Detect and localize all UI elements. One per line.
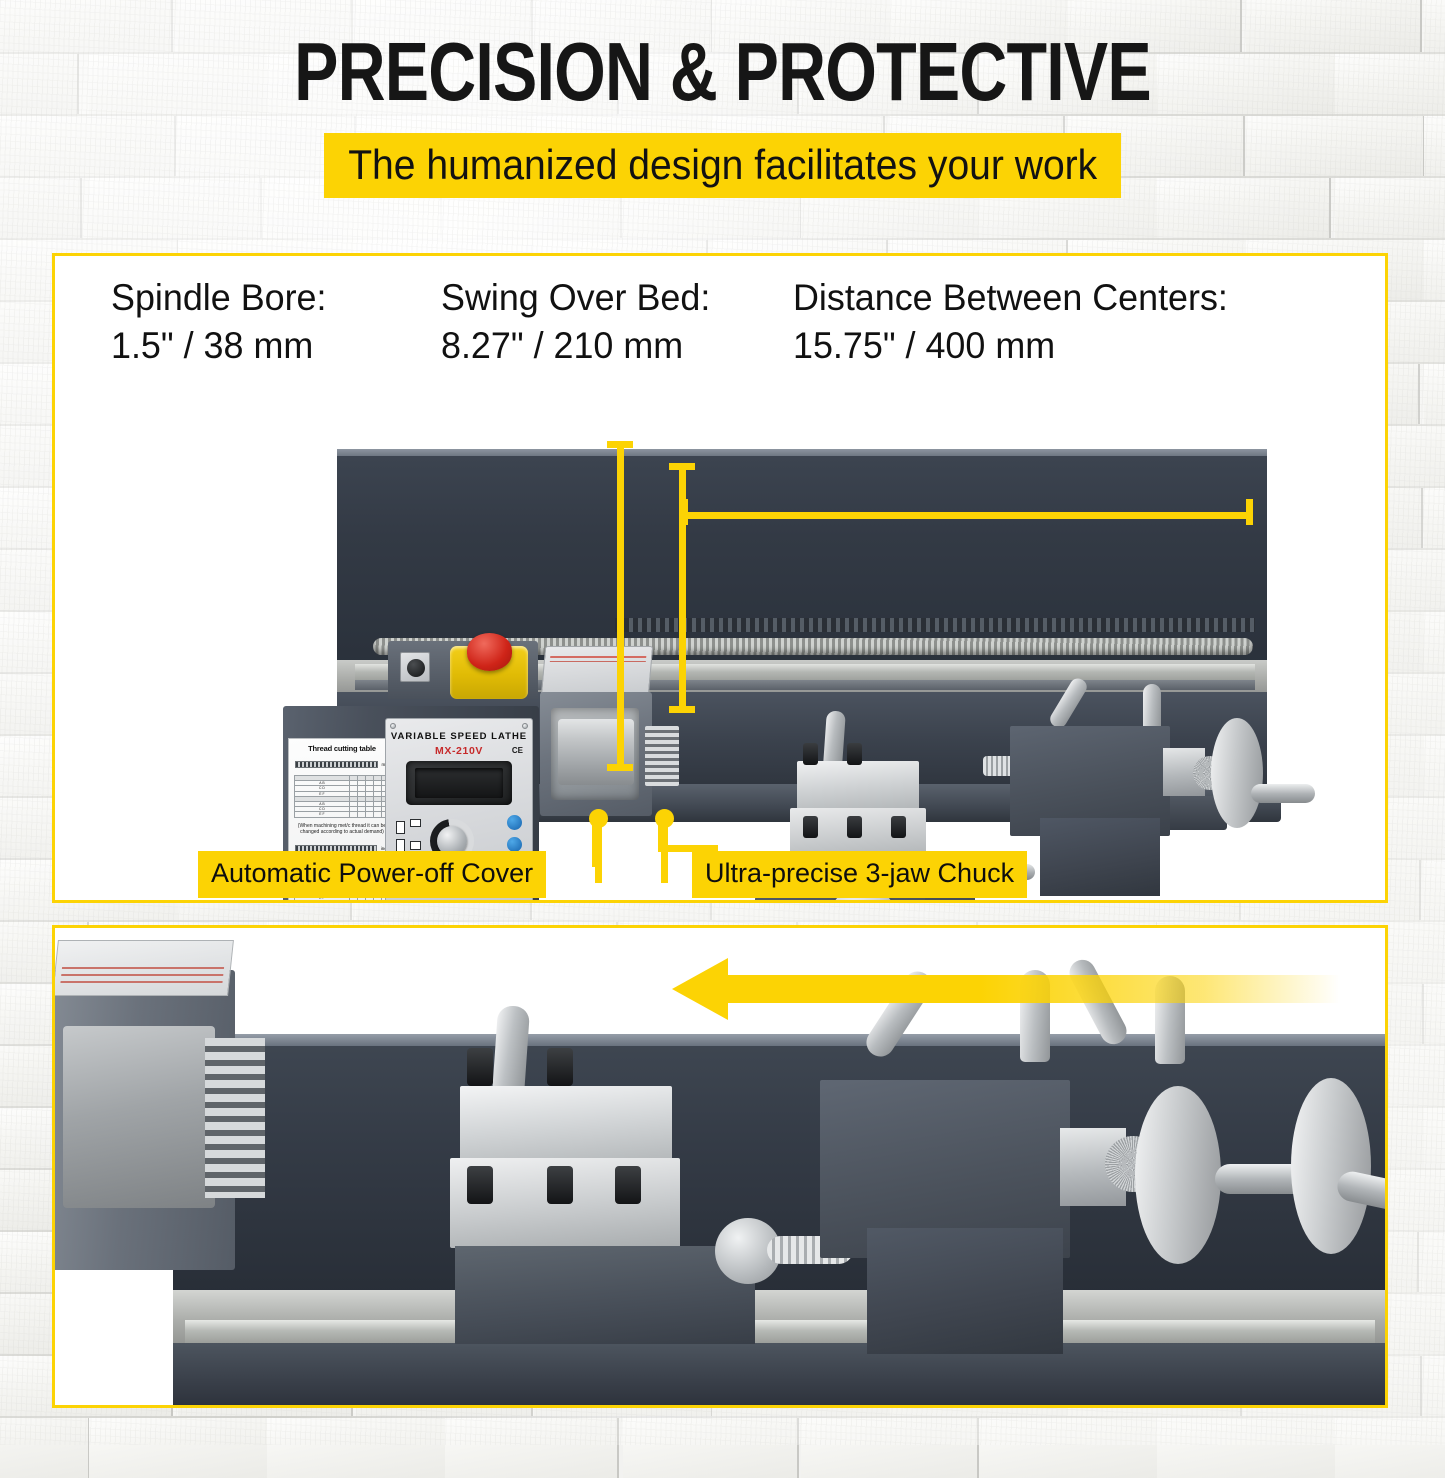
- chuck-guard-lid[interactable]: [541, 646, 653, 696]
- dim-line-distance-between-centers: [681, 512, 1253, 519]
- panel-screw-tl: [390, 723, 396, 729]
- thread-table-metric: A B C D E F A B C D E F: [294, 775, 390, 818]
- tool-post-bolt: [803, 743, 818, 765]
- thread-table-title: Thread cutting table: [289, 739, 395, 753]
- symbol-m: [410, 819, 421, 827]
- guard-warning-stripe-2: [550, 661, 646, 662]
- thread-diagram-mm: mm: [295, 756, 389, 772]
- tailstock-handle[interactable]: [1251, 784, 1315, 803]
- subtitle-wrap: The humanized design facilitates your wo…: [0, 133, 1445, 199]
- speed-display: [406, 761, 512, 805]
- dim-cap-swing-top: [669, 463, 695, 470]
- closeup-bed-front: [173, 1343, 1385, 1408]
- panel-screw-tr: [522, 723, 528, 729]
- closeup-tailstock-base: [867, 1228, 1063, 1354]
- callout-stem-power-off-cover: [592, 815, 599, 867]
- closeup-tool-post-top: [460, 1086, 672, 1164]
- dim-cap-distance-left: [681, 499, 688, 525]
- dim-line-spindle-bore: [617, 441, 624, 771]
- callout-stem-chuck: [658, 815, 665, 845]
- tool-post-bolt: [847, 743, 862, 765]
- tool-post-bolt: [803, 816, 818, 838]
- chuck-jaws: [645, 726, 679, 786]
- direction-arrow-head: [672, 958, 728, 1020]
- top-feature-panel: Spindle Bore: 1.5" / 38 mm Swing Over Be…: [52, 253, 1388, 903]
- tool-post-top: [797, 761, 919, 811]
- closeup-three-jaw-chuck: [63, 1026, 215, 1208]
- thread-pitch-icon: [295, 761, 378, 768]
- ce-mark: CE: [512, 746, 523, 755]
- tailstock-base: [1040, 818, 1160, 896]
- panel-caution-heading: CAUTION: [394, 900, 416, 903]
- symbol-forward: [396, 821, 405, 834]
- callout-label-power-off-cover: Automatic Power-off Cover: [198, 851, 546, 898]
- closeup-tool-post-bolt: [615, 1166, 641, 1204]
- closeup-label-stripe: [60, 981, 222, 983]
- page-title: PRECISION & PROTECTIVE: [145, 30, 1301, 115]
- model-number: MX-210V: [386, 745, 532, 757]
- guard-warning-stripe: [550, 656, 646, 658]
- closeup-tool-post-bolt: [547, 1166, 573, 1204]
- panel-caution-note: CAUTION Read and understand the operatio…: [394, 899, 526, 903]
- closeup-tool-post-bolt: [467, 1166, 493, 1204]
- closeup-tailstock-handwheel[interactable]: [1135, 1086, 1221, 1264]
- rack-gear: [615, 618, 1255, 632]
- closeup-tailstock-handwheel-2[interactable]: [1291, 1078, 1371, 1254]
- page-subtitle: The humanized design facilitates your wo…: [324, 133, 1121, 199]
- closeup-bed-ways: [185, 1320, 1375, 1344]
- closeup-cross-slide: [455, 1246, 755, 1344]
- tool-post-bolt: [847, 816, 862, 838]
- closeup-label-stripe: [62, 967, 224, 969]
- closeup-chuck-jaws: [205, 1038, 265, 1198]
- rotary-selector-switch[interactable]: [400, 652, 430, 682]
- badge-icon-upper: [507, 815, 522, 830]
- tool-post-bolt: [891, 816, 906, 838]
- dim-cap-swing-bottom: [669, 706, 695, 713]
- thread-table-note: (When machining met/c thread it can be c…: [289, 821, 395, 838]
- emergency-stop-button[interactable]: [467, 633, 512, 671]
- tailstock-handwheel[interactable]: [1211, 718, 1263, 828]
- closeup-tool-post-lever[interactable]: [492, 1005, 530, 1099]
- closeup-label-stripe: [61, 974, 223, 976]
- callout-label-three-jaw-chuck: Ultra-precise 3-jaw Chuck: [692, 851, 1027, 898]
- dim-cap-distance-right: [1246, 499, 1253, 525]
- symbol-chuck: [410, 841, 421, 850]
- closeup-headstock-label: [52, 940, 234, 996]
- control-panel-title: VARIABLE SPEED LATHE: [386, 731, 532, 742]
- header: PRECISION & PROTECTIVE The humanized des…: [0, 30, 1445, 198]
- dim-cap-spindle-bore-top: [607, 441, 633, 448]
- tool-post-lever[interactable]: [823, 710, 846, 765]
- badge-icon-lower: [507, 837, 522, 852]
- direction-arrow-shaft: [720, 975, 1340, 1003]
- dim-cap-spindle-bore-bottom: [607, 764, 633, 771]
- closeup-tool-post-bolt: [467, 1048, 493, 1086]
- lathe-photo: Thread cutting table mm A B C D E F A B …: [55, 256, 1385, 900]
- closeup-tool-post-bolt: [547, 1048, 573, 1086]
- tailstock-quill-lever[interactable]: [1143, 684, 1161, 732]
